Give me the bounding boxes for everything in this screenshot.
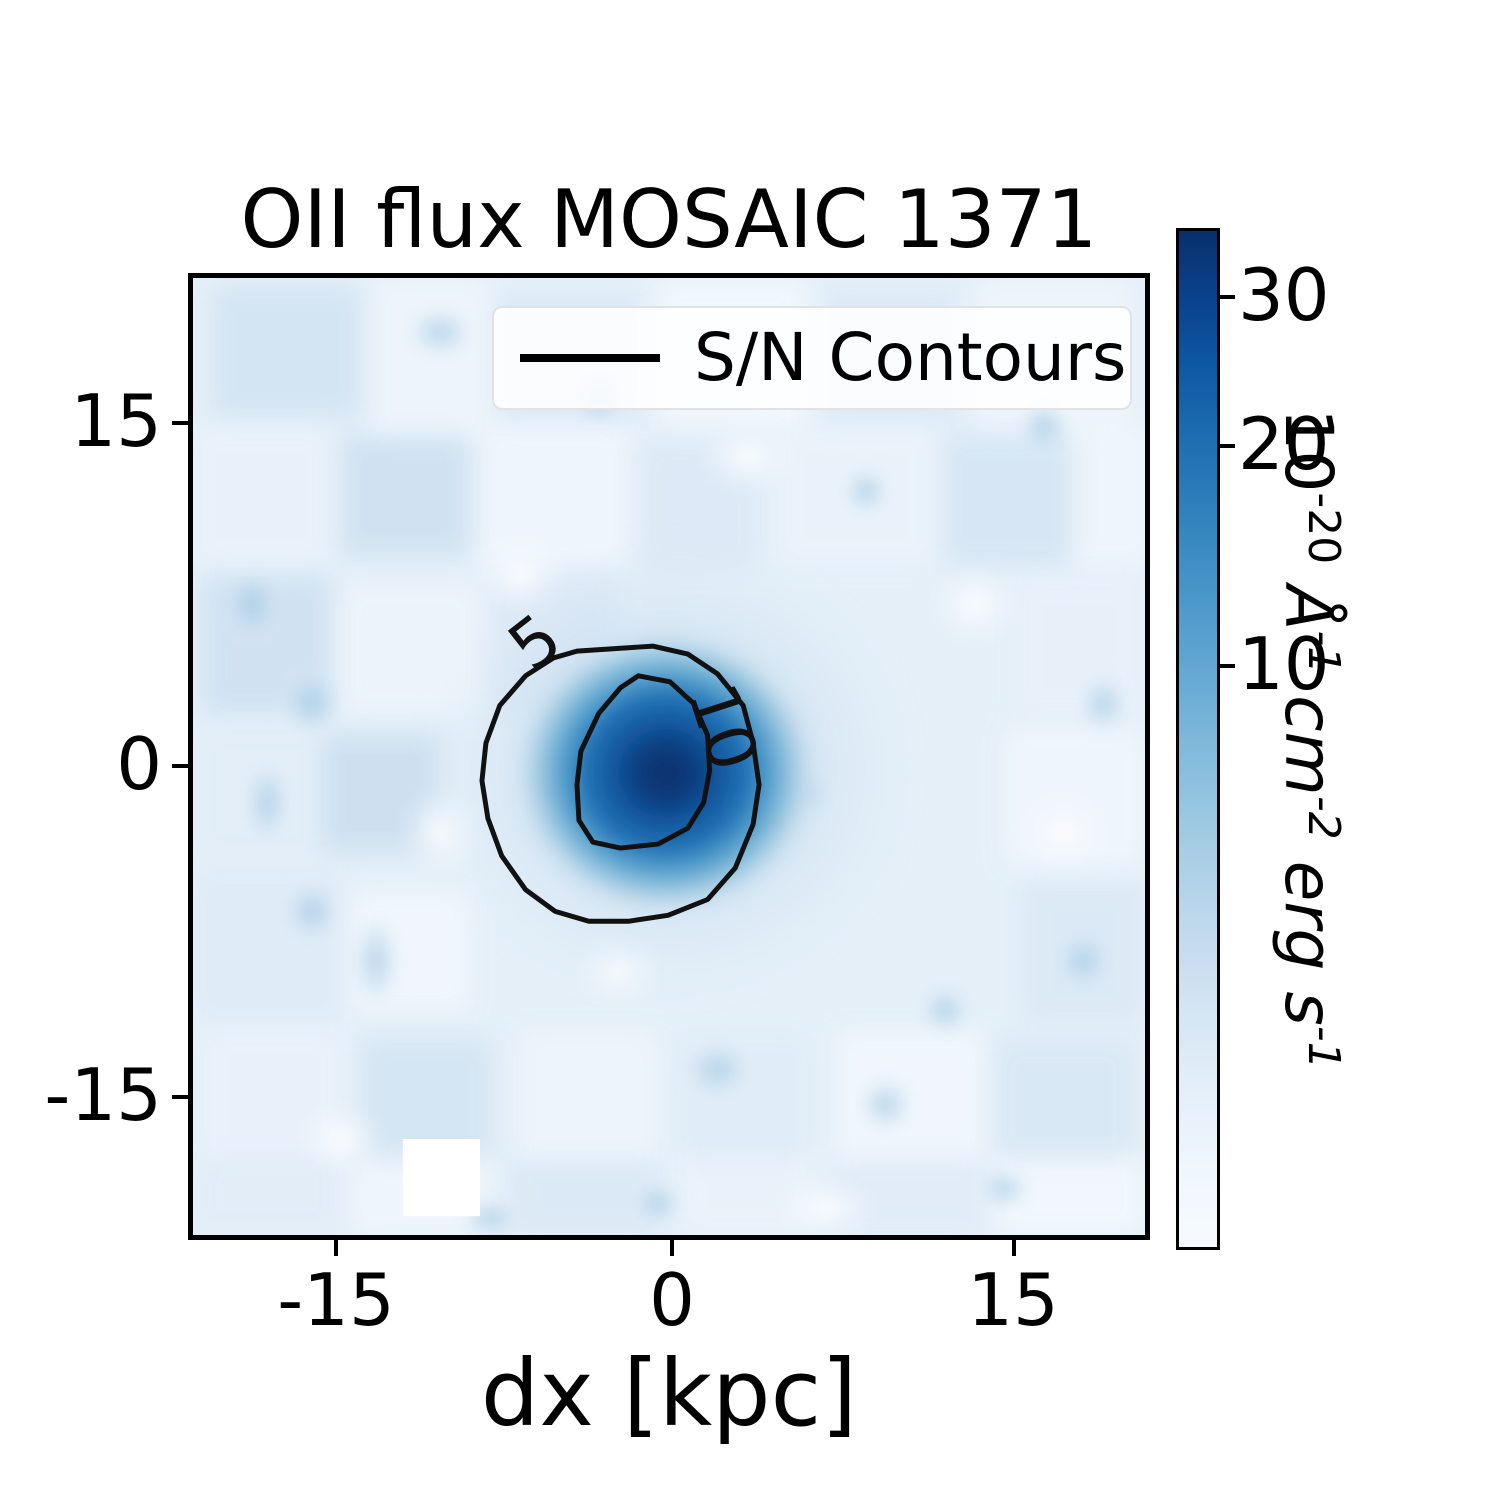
flux-image: 5 10: [193, 278, 1145, 1235]
y-tick-label: 0: [116, 722, 162, 806]
y-tick-mark: [172, 421, 188, 425]
colorbar-tick-mark: [1220, 664, 1235, 668]
cbar-angstrom: Å: [1270, 564, 1347, 630]
figure-canvas: OII flux MOSAIC 1371: [0, 0, 1500, 1500]
x-tick-label: -15: [277, 1258, 395, 1342]
x-tick-mark: [1012, 1240, 1016, 1256]
heatmap-axes[interactable]: 5 10: [188, 273, 1150, 1240]
x-tick-label: 15: [967, 1258, 1059, 1342]
y-tick-mark: [172, 764, 188, 768]
cbar-prefix-exp: -20: [1298, 492, 1349, 564]
legend[interactable]: S/N Contours: [492, 306, 1132, 410]
cbar-cm: cm: [1270, 674, 1347, 796]
cbar-cm-exp: -2: [1298, 796, 1349, 840]
page-title: OII flux MOSAIC 1371: [188, 175, 1150, 265]
x-axis-label: dx [kpc]: [188, 1340, 1150, 1447]
x-tick-mark: [334, 1240, 338, 1256]
legend-label: S/N Contours: [694, 325, 1126, 391]
x-tick-mark: [670, 1240, 674, 1256]
colorbar-axis-label: 10-20 Å-1 cm-2 erg s-1: [1268, 228, 1378, 1250]
y-tick-label: 15: [70, 379, 162, 463]
cbar-angstrom-exp: -1: [1298, 630, 1349, 674]
colorbar[interactable]: [1176, 228, 1220, 1250]
cbar-prefix: 10: [1270, 408, 1347, 492]
y-tick-label: -15: [44, 1053, 162, 1137]
colorbar-tick-mark: [1220, 295, 1235, 299]
colorbar-tick-mark: [1220, 444, 1235, 448]
legend-line-marker: [520, 354, 660, 362]
cbar-erg-exp: -1: [1298, 1026, 1349, 1070]
cbar-erg: erg s: [1270, 840, 1347, 1026]
x-tick-label: 0: [649, 1258, 695, 1342]
y-tick-mark: [172, 1095, 188, 1099]
